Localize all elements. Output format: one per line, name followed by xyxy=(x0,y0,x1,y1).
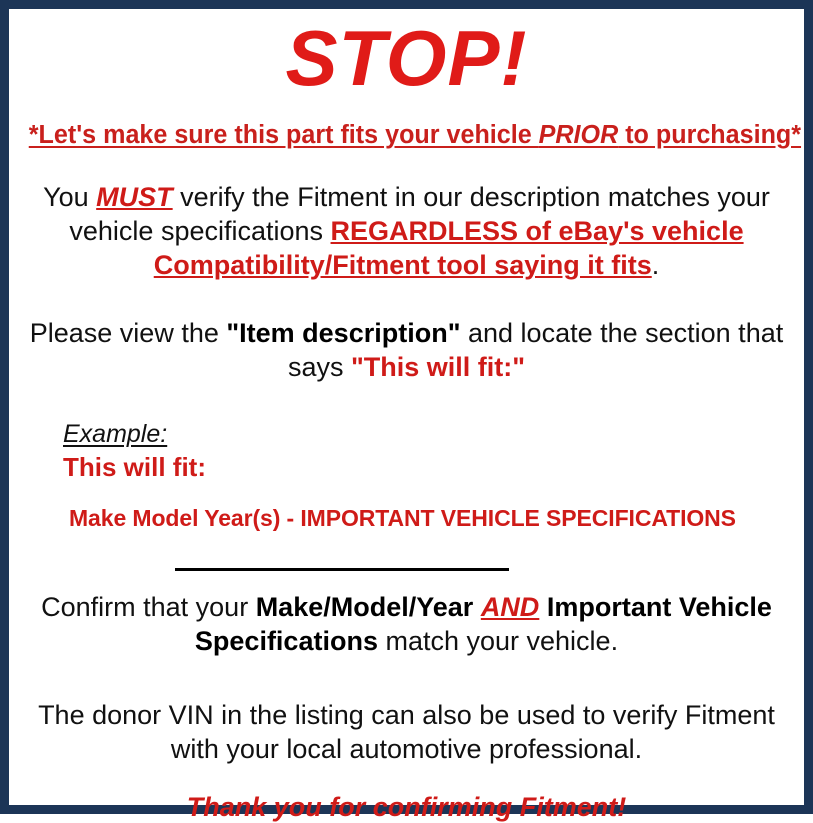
confirm-part2: match your vehicle. xyxy=(378,626,618,656)
example-fit-line: This will fit: xyxy=(63,449,790,483)
must-part3: . xyxy=(652,250,660,280)
confirm-space-b xyxy=(539,592,547,622)
tagline-emphasis-prior: PRIOR xyxy=(539,121,619,149)
fitment-notice-banner: STOP! *Let's make sure this part fits yo… xyxy=(0,0,813,814)
desc-part1: Please view the xyxy=(30,318,227,348)
and-emphasis: AND xyxy=(481,592,540,622)
paragraph-donor-vin: The donor VIN in the listing can also be… xyxy=(23,658,790,766)
confirm-space-a xyxy=(473,592,481,622)
make-model-year-emphasis: Make/Model/Year xyxy=(256,592,474,622)
divider-wrap xyxy=(23,532,790,562)
must-part1: You xyxy=(43,182,96,212)
example-label: Example: xyxy=(63,420,167,449)
example-block: Example: This will fit: Make Model Year(… xyxy=(23,384,790,532)
item-description-emphasis: "Item description" xyxy=(226,318,460,348)
paragraph-confirm: Confirm that your Make/Model/Year AND Im… xyxy=(23,562,790,658)
tagline-part1: *Let's make sure this part fits your veh… xyxy=(29,121,539,149)
must-emphasis: MUST xyxy=(96,182,173,212)
thank-you-line: Thank you for confirming Fitment! xyxy=(23,766,790,823)
paragraph-item-description: Please view the "Item description" and l… xyxy=(23,282,790,384)
tagline-part2: to purchasing* xyxy=(618,121,801,149)
example-spec-line: Make Model Year(s) - IMPORTANT VEHICLE S… xyxy=(63,483,790,532)
confirm-part1: Confirm that your xyxy=(41,592,256,622)
example-label-row: Example: xyxy=(63,420,790,449)
paragraph-must-verify: You MUST verify the Fitment in our descr… xyxy=(23,150,790,282)
this-will-fit-emphasis: "This will fit:" xyxy=(351,352,525,382)
notice-content: STOP! *Let's make sure this part fits yo… xyxy=(23,9,790,805)
page-title: STOP! xyxy=(23,9,790,97)
horizontal-divider xyxy=(175,568,509,571)
tagline: *Let's make sure this part fits your veh… xyxy=(29,97,784,150)
